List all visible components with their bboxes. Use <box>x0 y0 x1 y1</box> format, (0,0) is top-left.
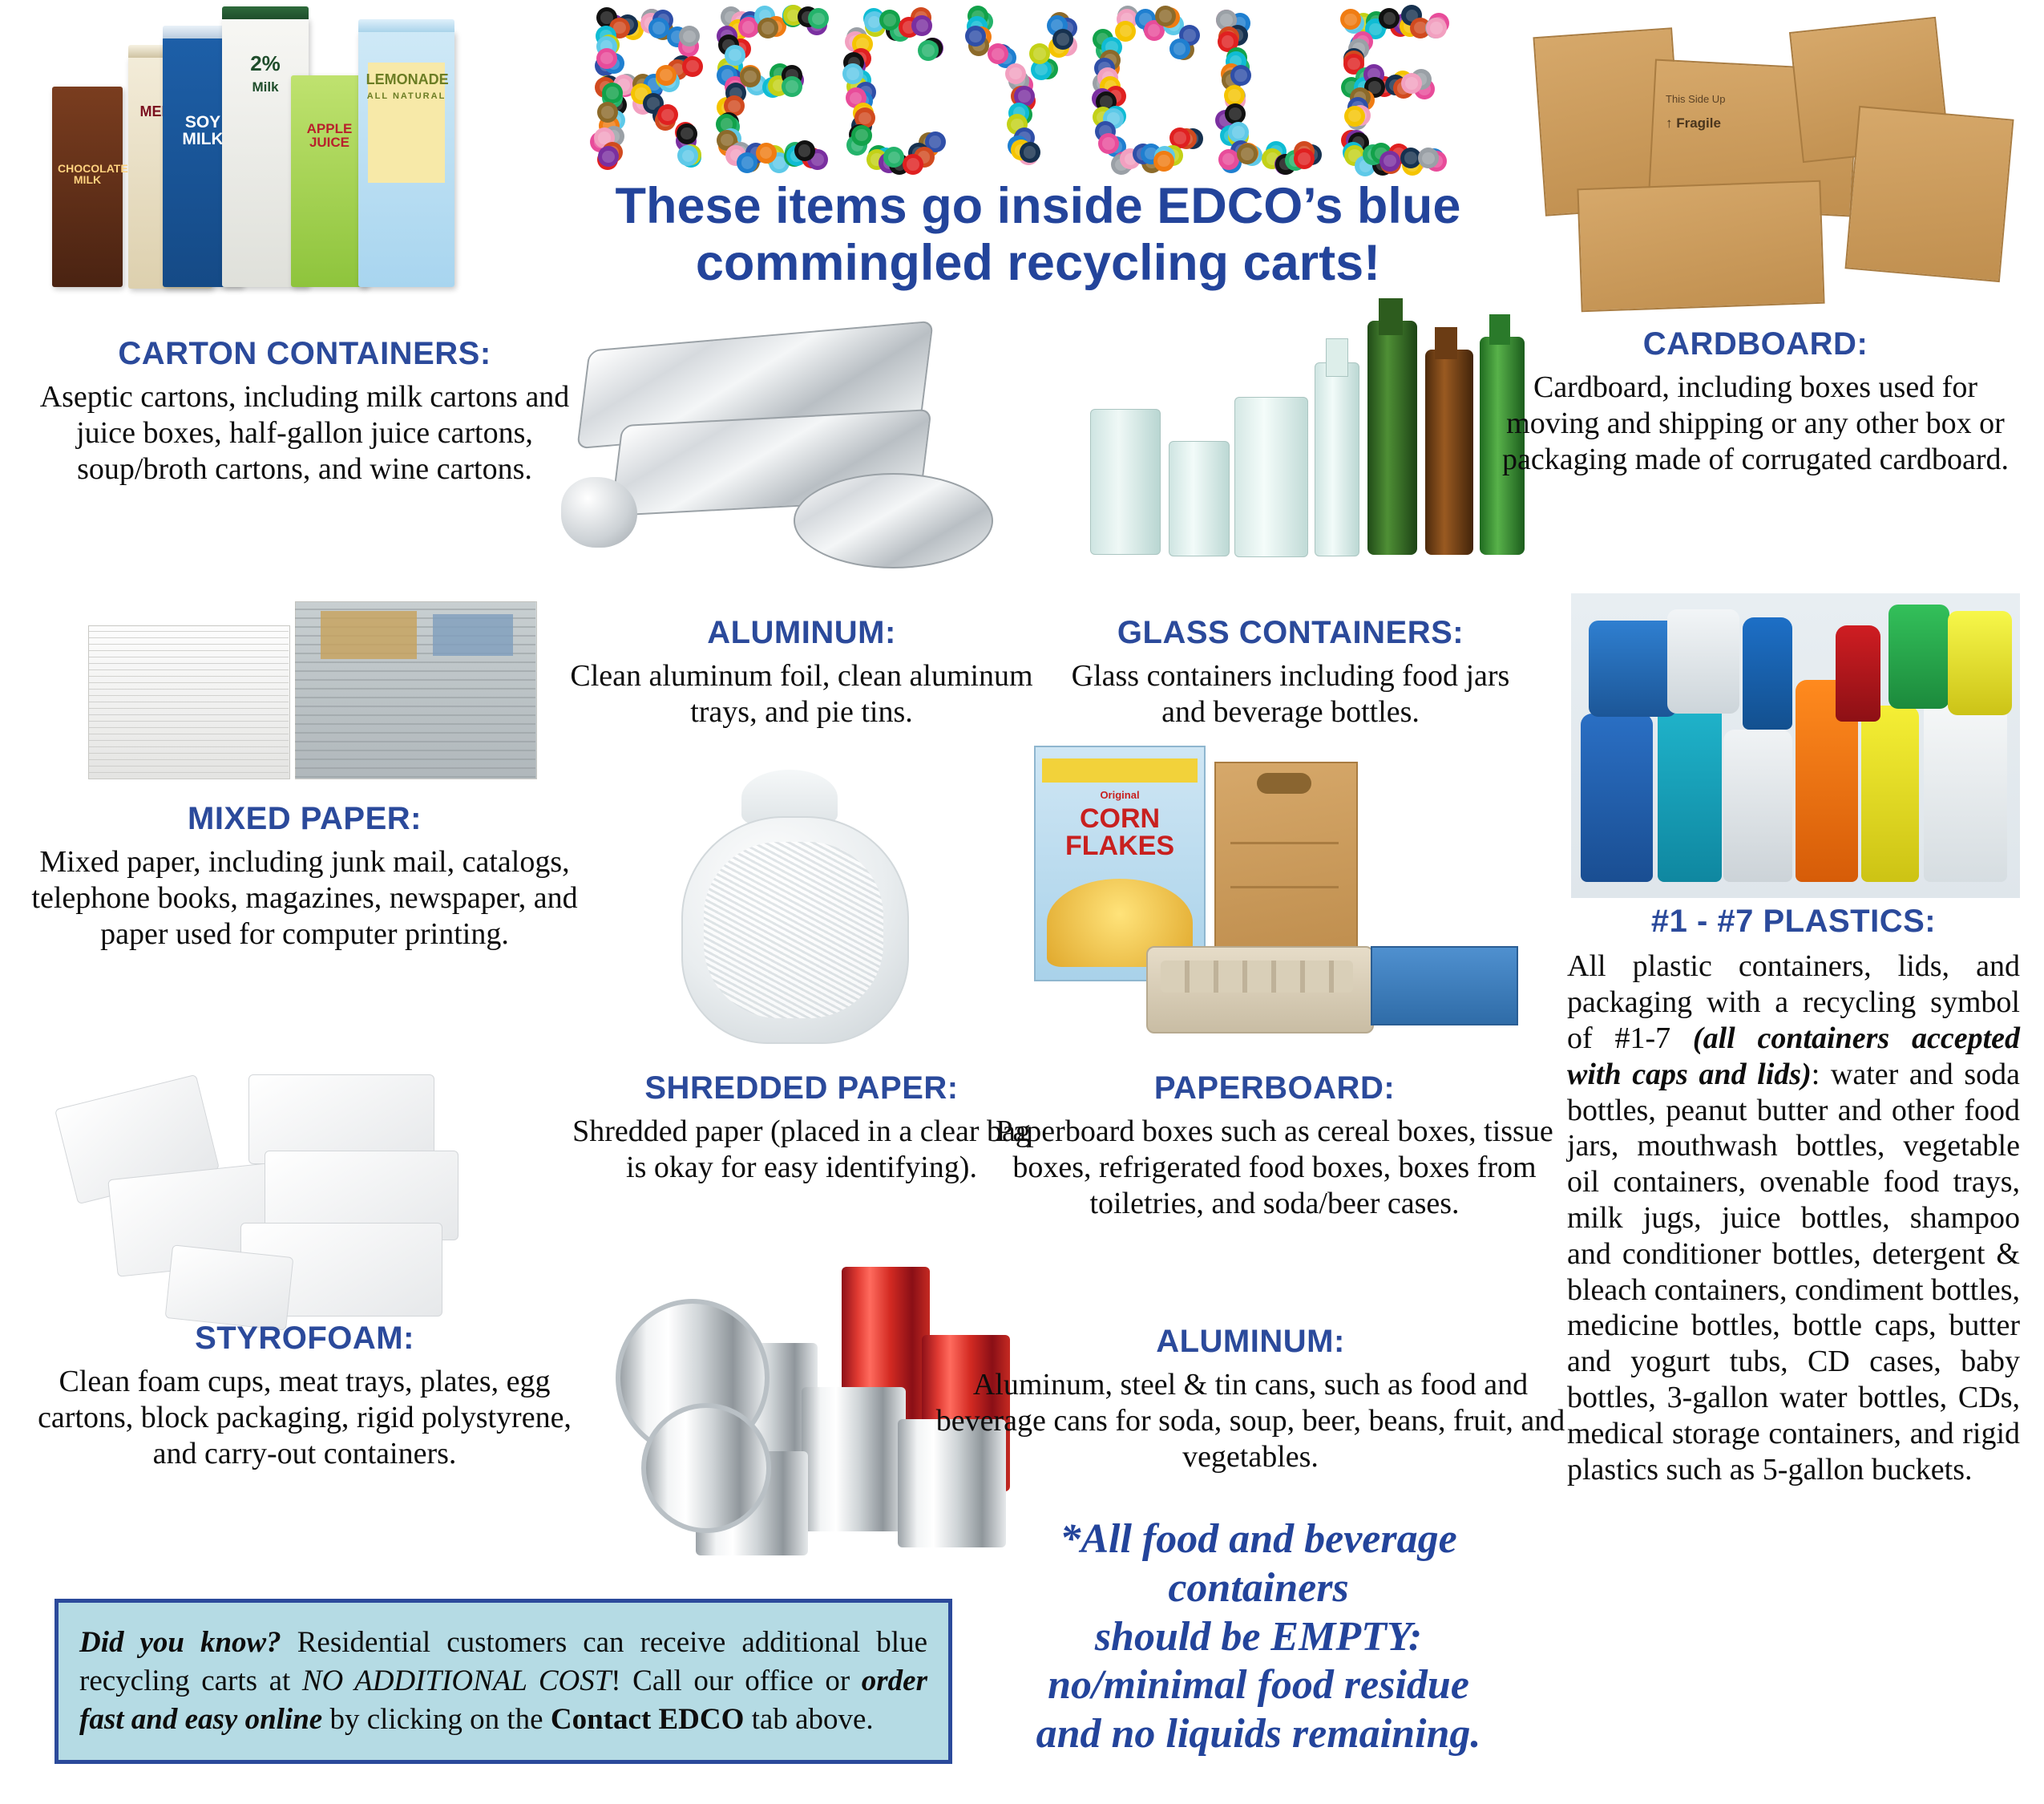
dyk-text2: ! Call our office or <box>611 1664 861 1697</box>
glass-containers-heading: GLASS CONTAINERS: <box>1050 616 1531 650</box>
empty-note-line5: and no liquids remaining. <box>954 1710 1563 1759</box>
paperboard-image: Original CORNFLAKES <box>1026 746 1523 1058</box>
bottle-cap-mosaic <box>593 5 1483 177</box>
aluminum-trays-image <box>561 321 1010 585</box>
aluminum-foil-heading: ALUMINUM: <box>561 616 1042 650</box>
section-carton-containers: CARTON CONTAINERS: Aseptic cartons, incl… <box>24 337 585 487</box>
paperboard-heading: PAPERBOARD: <box>986 1071 1563 1106</box>
section-mixed-paper: MIXED PAPER: Mixed paper, including junk… <box>24 802 585 953</box>
plastics-image <box>1571 593 2020 898</box>
dyk-text3: by clicking on the <box>322 1703 551 1736</box>
did-you-know-box: Did you know? Residential customers can … <box>55 1599 952 1764</box>
did-you-know-lead: Did you know? <box>79 1626 281 1659</box>
aluminum-cans-body: Aluminum, steel & tin cans, such as food… <box>930 1367 1571 1474</box>
dyk-em1: NO ADDITIONAL COST <box>302 1664 611 1697</box>
empty-note-line1: *All food and beverage <box>954 1515 1563 1564</box>
shredded-paper-heading: SHREDDED PAPER: <box>561 1071 1042 1106</box>
mixed-paper-heading: MIXED PAPER: <box>24 802 585 836</box>
section-paperboard: PAPERBOARD: Paperboard boxes such as cer… <box>986 1071 1563 1222</box>
section-styrofoam: STYROFOAM: Clean foam cups, meat trays, … <box>16 1321 593 1472</box>
dyk-text4: tab above. <box>744 1703 873 1736</box>
section-aluminum-foil: ALUMINUM: Clean aluminum foil, clean alu… <box>561 616 1042 730</box>
styrofoam-body: Clean foam cups, meat trays, plates, egg… <box>16 1364 593 1471</box>
glass-containers-image <box>1074 321 1523 585</box>
section-shredded-paper: SHREDDED PAPER: Shredded paper (placed i… <box>561 1071 1042 1186</box>
empty-note-line4: no/minimal food residue <box>954 1661 1563 1710</box>
cardboard-image: This Side Up ↑ Fragile <box>1531 16 2012 321</box>
plastics-body: All plastic containers, lids, and packag… <box>1567 949 2020 1487</box>
carton-containers-image: CHOCOLATEMILK MERLOT SOYMILK 2%Milk APPL… <box>44 6 565 327</box>
section-plastics: #1 - #7 PLASTICS: All plastic containers… <box>1567 904 2020 1488</box>
carton-containers-body: Aseptic cartons, including milk cartons … <box>24 379 585 487</box>
empty-containers-note: *All food and beverage containers should… <box>954 1515 1563 1759</box>
empty-note-line2: containers <box>954 1564 1563 1613</box>
empty-note-line3: should be EMPTY: <box>954 1613 1563 1662</box>
aluminum-cans-heading: ALUMINUM: <box>930 1325 1571 1359</box>
paperboard-body: Paperboard boxes such as cereal boxes, t… <box>986 1114 1563 1221</box>
page-subtitle: These items go inside EDCO’s blue commin… <box>529 178 1547 291</box>
section-aluminum-cans: ALUMINUM: Aluminum, steel & tin cans, su… <box>930 1325 1571 1475</box>
cardboard-heading: CARDBOARD: <box>1491 327 2020 362</box>
carton-containers-heading: CARTON CONTAINERS: <box>24 337 585 371</box>
shredded-paper-body: Shredded paper (placed in a clear bag is… <box>561 1114 1042 1186</box>
styrofoam-heading: STYROFOAM: <box>16 1321 593 1356</box>
aluminum-foil-body: Clean aluminum foil, clean aluminum tray… <box>561 658 1042 730</box>
cardboard-body: Cardboard, including boxes used for movi… <box>1491 370 2020 477</box>
shredded-paper-image <box>665 770 930 1050</box>
did-you-know-text: Did you know? Residential customers can … <box>59 1603 948 1739</box>
plastics-heading: #1 - #7 PLASTICS: <box>1567 904 2020 939</box>
section-cardboard: CARDBOARD: Cardboard, including boxes us… <box>1491 327 2020 478</box>
mixed-paper-body: Mixed paper, including junk mail, catalo… <box>24 844 585 952</box>
mixed-paper-image <box>80 593 561 802</box>
plastics-body-part2: : water and soda bottles, peanut butter … <box>1567 1058 2020 1486</box>
dyk-contact-edco[interactable]: Contact EDCO <box>551 1703 745 1736</box>
styrofoam-image <box>64 1066 529 1331</box>
section-glass-containers: GLASS CONTAINERS: Glass containers inclu… <box>1050 616 1531 730</box>
glass-containers-body: Glass containers including food jars and… <box>1050 658 1531 730</box>
recycle-title-capsart: RECYCLE <box>593 5 1483 177</box>
